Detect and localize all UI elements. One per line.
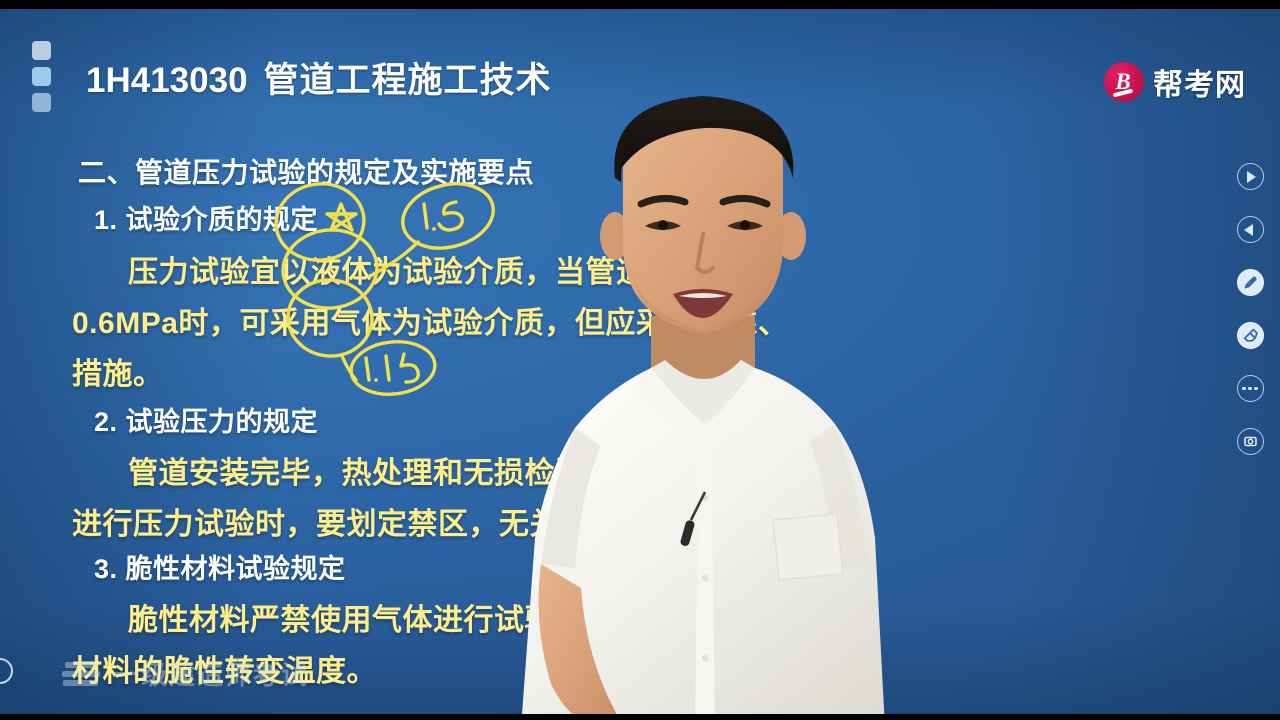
letterbox-top [0,0,1280,9]
watermark: 一级建造师考试 [62,655,309,692]
course-code: 1H413030 [86,61,248,100]
next-page-icon[interactable] [1237,163,1264,190]
block-line: 0.6MPa时，可采用气体为试验介质，但应采取可靠、 [72,298,788,342]
page-title: 1H413030管道工程施工技术 [86,52,552,103]
block-line: 进行压力试验时，要划定禁区，无关人员 [72,499,621,543]
block-line: 压力试验宜以液体为试验介质，当管道的设计压 [128,247,769,291]
brand-mark-letter: B [1115,70,1130,93]
lecture-slide: 1H413030管道工程施工技术 B 帮考网 二、管道压力试验的规定及实施要点 … [0,8,1280,714]
collapse-toolbar-icon[interactable] [0,658,13,684]
screenshot-icon[interactable] [1237,428,1264,455]
book-icon [62,662,100,686]
block-line: 管道安装完毕，热处理和无损检测合格 [128,448,647,492]
brand-logo: B 帮考网 [1104,60,1246,104]
prev-page-icon[interactable] [1237,216,1264,243]
brand-name: 帮考网 [1153,60,1246,104]
brand-mark-icon: B [1104,62,1144,102]
block-heading-3: 3. 脆性材料试验规定 [94,547,346,586]
block-line: 措施。 [72,349,164,393]
block-heading-1: 1. 试验介质的规定 [94,198,318,237]
slide-header: 1H413030管道工程施工技术 B 帮考网 [0,22,1280,114]
block-heading-2: 2. 试验压力的规定 [94,400,318,439]
player-toolbar[interactable] [1228,163,1272,455]
block-line: 脆性材料严禁使用气体进行试验，压 [128,595,616,639]
watermark-text: 一级建造师考试 [113,655,309,692]
more-icon[interactable] [1237,375,1264,402]
course-title: 管道工程施工技术 [264,61,552,100]
section-heading: 二、管道压力试验的规定及实施要点 [78,151,534,191]
letterbox-bottom [0,714,1280,720]
eraser-icon[interactable] [1237,322,1264,349]
video-player-stage: 1H413030管道工程施工技术 B 帮考网 二、管道压力试验的规定及实施要点 … [0,0,1280,720]
pen-icon[interactable] [1237,269,1264,296]
stacked-squares-icon [32,41,51,112]
